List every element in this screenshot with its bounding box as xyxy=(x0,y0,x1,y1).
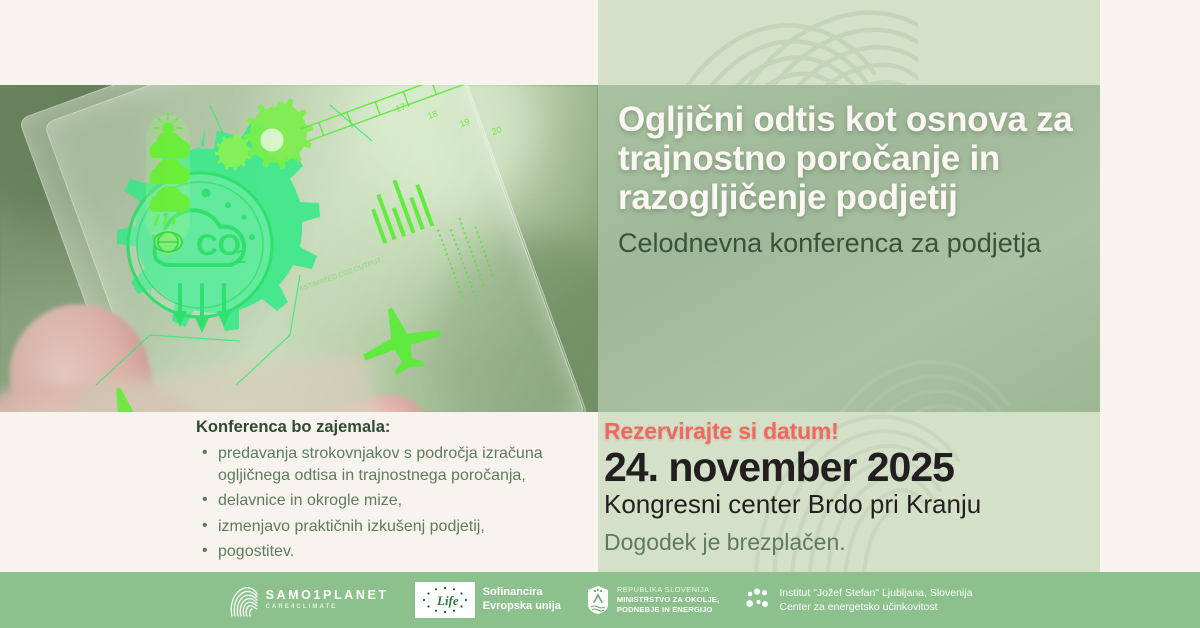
event-details: Rezervirajte si datum! 24. november 2025… xyxy=(604,418,1084,556)
ministry-line-3: PODNEBJE IN ENERGIJO xyxy=(617,605,719,615)
eu-life-box: Life xyxy=(415,582,475,618)
eu-line-1: Sofinancira xyxy=(483,586,561,600)
list-item: pogostitev. xyxy=(218,541,586,563)
agenda-list: predavanja strokovnjakov s področja izra… xyxy=(196,443,586,563)
eu-line-2: Evropska unija xyxy=(483,600,561,614)
svg-text:Life: Life xyxy=(436,593,459,608)
list-item: izmenjavo praktičnih izkušenj podjetij, xyxy=(218,516,586,538)
page-title: Ogljični odtis kot osnova za trajnostno … xyxy=(618,100,1088,218)
ministry-line-1: REPUBLIKA SLOVENIJA xyxy=(617,585,719,595)
footer-logo-bar: SAMO1PLANET CARE4CLIMATE Life Sofinancir… xyxy=(0,572,1200,628)
slovenia-coat-of-arms-icon xyxy=(587,586,609,614)
list-item: delavnice in okrogle mize, xyxy=(218,490,586,512)
ministry-line-2: MINISTRSTVO ZA OKOLJE, xyxy=(617,595,719,605)
logo-ministry[interactable]: REPUBLIKA SLOVENIJA MINISTRSTVO ZA OKOLJ… xyxy=(587,585,719,614)
conference-promo-poster: CO 2 xyxy=(0,0,1200,628)
ijs-dots-icon xyxy=(745,588,771,612)
headline-text-group: Ogljični odtis kot osnova za trajnostno … xyxy=(618,100,1088,259)
page-subtitle: Celodnevna konferenca za podjetja xyxy=(618,228,1088,260)
logo-jozef-stefan-institute[interactable]: Institut "Jožef Stefan" Ljubljana, Slove… xyxy=(745,586,972,614)
logo-samo1planet[interactable]: SAMO1PLANET CARE4CLIMATE xyxy=(228,583,389,617)
fingerprint-mark-icon xyxy=(228,583,258,617)
logo-samo1planet-name: SAMO1PLANET xyxy=(266,589,389,602)
eu-life-stars-icon: Life xyxy=(418,585,472,615)
hero-photo: CO 2 xyxy=(0,85,598,412)
event-price-note: Dogodek je brezplačen. xyxy=(604,529,1084,556)
logo-european-union[interactable]: Life Sofinancira Evropska unija xyxy=(415,582,561,618)
ijs-line-2: Center za energetsko učinkovitost xyxy=(779,600,972,614)
ijs-line-1: Institut "Jožef Stefan" Ljubljana, Slove… xyxy=(779,586,972,600)
hero-edge-shading xyxy=(0,85,598,412)
agenda-heading: Konferenca bo zajemala: xyxy=(196,418,586,437)
logo-samo1planet-tagline: CARE4CLIMATE xyxy=(266,604,389,611)
save-the-date-label: Rezervirajte si datum! xyxy=(604,418,1084,445)
agenda-section: Konferenca bo zajemala: predavanja strok… xyxy=(196,418,586,567)
event-venue: Kongresni center Brdo pri Kranju xyxy=(604,490,1084,520)
list-item: predavanja strokovnjakov s področja izra… xyxy=(218,443,586,486)
fingerprint-pattern-band-icon xyxy=(748,275,1048,412)
event-date: 24. november 2025 xyxy=(604,446,1084,489)
